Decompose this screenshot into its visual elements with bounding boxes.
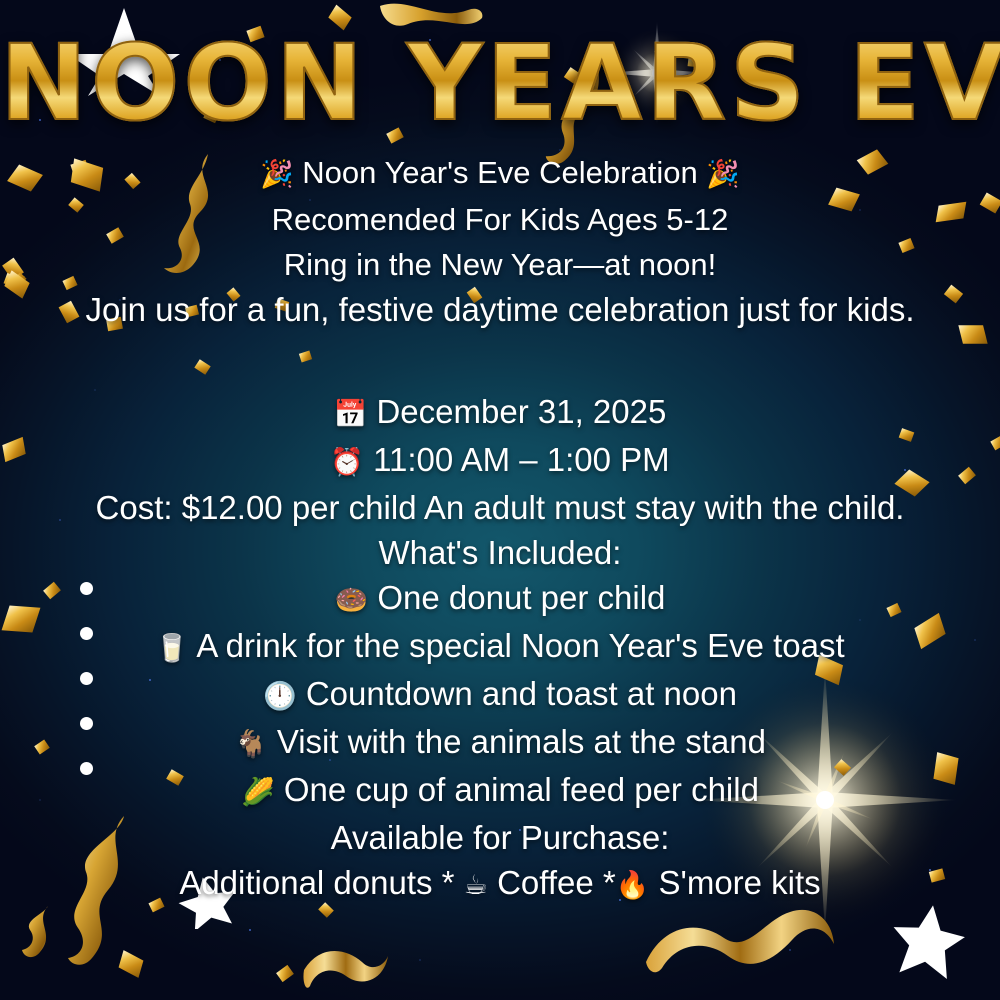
coffee-icon: ☕ (464, 870, 488, 901)
list-bullet (80, 627, 93, 640)
list-bullet (80, 672, 93, 685)
list-item: 🥛 A drink for the special Noon Year's Ev… (0, 623, 1000, 671)
corn-icon: 🌽 (241, 777, 275, 808)
purchase-part-3: S'more kits (649, 864, 820, 901)
event-date: 📅 December 31, 2025 (0, 389, 1000, 437)
list-item-label: Visit with the animals at the stand (277, 723, 766, 760)
event-date-text: December 31, 2025 (376, 393, 666, 430)
intro-line-3: Ring in the New Year—at noon! (0, 242, 1000, 287)
fire-icon: 🔥 (616, 870, 650, 901)
intro-line-4: Join us for a fun, festive daytime celeb… (0, 287, 1000, 332)
purchase-items: Additional donuts * ☕ Coffee *🔥 S'more k… (0, 860, 1000, 908)
page-title: NOON YEARS EVE (0, 22, 1000, 144)
event-time-text: 11:00 AM – 1:00 PM (373, 441, 670, 478)
included-heading: What's Included: (0, 530, 1000, 575)
glass-of-milk-icon: 🥛 (155, 633, 189, 664)
gold-ribbon (300, 930, 390, 1000)
list-item: 🌽 One cup of animal feed per child (0, 767, 1000, 815)
copy-spacer (0, 332, 1000, 377)
poster-body: 🎉 Noon Year's Eve Celebration 🎉 Recomend… (0, 150, 1000, 908)
clock-twelve-icon: 🕛 (263, 681, 297, 712)
party-popper-icon: 🎉 (706, 159, 740, 190)
goat-icon: 🐐 (234, 729, 268, 760)
list-item-label: One cup of animal feed per child (284, 771, 759, 808)
gold-confetti (276, 965, 294, 982)
list-bullet (80, 582, 93, 595)
alarm-clock-icon: ⏰ (330, 447, 364, 478)
purchase-heading: Available for Purchase: (0, 815, 1000, 860)
event-cost: Cost: $12.00 per child An adult must sta… (0, 485, 1000, 530)
white-star-bottom-right-icon (888, 902, 968, 980)
intro-line-2: Recomended For Kids Ages 5-12 (0, 197, 1000, 242)
list-item-label: One donut per child (377, 579, 665, 616)
intro-line-1-text: Noon Year's Eve Celebration (302, 155, 697, 190)
list-bullet (80, 762, 93, 775)
purchase-part-1: Additional donuts * (179, 864, 463, 901)
list-item: 🍩 One donut per child (0, 575, 1000, 623)
poster-canvas: NOON YEARS EVE 🎉 Noon Year's Eve Celebra… (0, 0, 1000, 1000)
doughnut-icon: 🍩 (335, 585, 369, 616)
list-bullet (80, 717, 93, 730)
poster-title-container: NOON YEARS EVE (0, 24, 1000, 144)
party-popper-icon: 🎉 (260, 159, 294, 190)
purchase-part-2: Coffee * (488, 864, 616, 901)
intro-line-1: 🎉 Noon Year's Eve Celebration 🎉 (0, 150, 1000, 197)
list-item: 🕛 Countdown and toast at noon (0, 671, 1000, 719)
list-item: 🐐 Visit with the animals at the stand (0, 719, 1000, 767)
list-item-label: A drink for the special Noon Year's Eve … (196, 627, 844, 664)
event-time: ⏰ 11:00 AM – 1:00 PM (0, 437, 1000, 485)
gold-confetti (119, 950, 144, 978)
calendar-icon: 📅 (334, 399, 368, 430)
copy-spacer-small (0, 377, 1000, 389)
list-item-label: Countdown and toast at noon (306, 675, 737, 712)
